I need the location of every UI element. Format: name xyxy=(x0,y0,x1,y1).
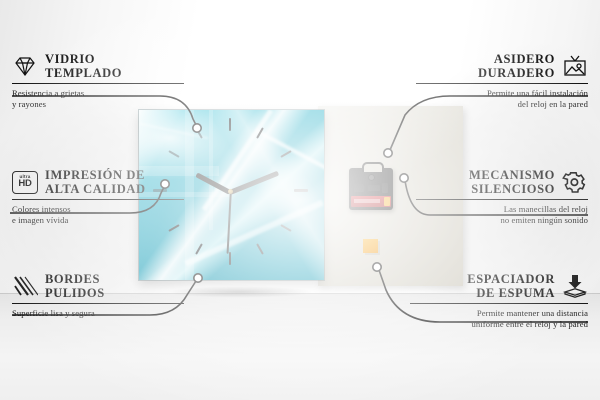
feature-description: Permite una fácil instalación del reloj … xyxy=(416,88,588,111)
feature-title: ASIDERO DURADERO xyxy=(478,52,555,80)
feature-durable-hanger: ASIDERO DURADERO Permite una fácil insta… xyxy=(416,52,588,111)
connector-dot-silent-mechanism xyxy=(400,174,408,182)
feature-title: IMPRESIÓN DE ALTA CALIDAD xyxy=(45,168,146,196)
ultra-hd-badge-icon: ultra HD xyxy=(12,171,38,194)
feature-divider xyxy=(12,83,184,84)
diamond-icon xyxy=(12,54,38,78)
feature-description: Permite mantener una distancia uniforme … xyxy=(410,308,588,331)
gear-icon xyxy=(562,170,588,194)
feature-divider xyxy=(416,199,588,200)
feature-silent-mechanism: MECANISMO SILENCIOSO Las manecillas del … xyxy=(416,168,588,227)
feature-title: BORDES PULIDOS xyxy=(45,272,105,300)
feature-divider xyxy=(12,303,184,304)
feature-hd-print: ultra HD IMPRESIÓN DE ALTA CALIDAD Color… xyxy=(12,168,184,227)
feature-description: Resistencia a grietas y rayones xyxy=(12,88,184,111)
connector-dot-tempered-glass xyxy=(193,124,201,132)
feature-polished-edges: BORDES PULIDOS Superficie lisa y segura xyxy=(12,272,184,319)
arrow-down-stack-icon xyxy=(562,274,588,298)
feature-tempered-glass: VIDRIO TEMPLADO Resistencia a grietas y … xyxy=(12,52,184,111)
feature-divider xyxy=(416,83,588,84)
feature-title: MECANISMO SILENCIOSO xyxy=(469,168,555,196)
feature-title: VIDRIO TEMPLADO xyxy=(45,52,122,80)
feature-divider xyxy=(410,303,588,304)
infographic-canvas: VIDRIO TEMPLADO Resistencia a grietas y … xyxy=(0,0,600,400)
connector-dot-durable-hanger xyxy=(384,149,392,157)
connector-dot-foam-spacer xyxy=(373,263,381,271)
diagonal-lines-icon xyxy=(12,274,38,298)
feature-description: Superficie lisa y segura xyxy=(12,308,184,319)
connector-dot-polished-edges xyxy=(194,274,202,282)
framed-picture-icon xyxy=(562,54,588,78)
feature-title: ESPACIADOR DE ESPUMA xyxy=(467,272,555,300)
feature-description: Las manecillas del reloj no emiten ningú… xyxy=(416,204,588,227)
feature-description: Colores intensos e imagen vívida xyxy=(12,204,184,227)
feature-divider xyxy=(12,199,184,200)
feature-foam-spacer: ESPACIADOR DE ESPUMA Permite mantener un… xyxy=(410,272,588,331)
